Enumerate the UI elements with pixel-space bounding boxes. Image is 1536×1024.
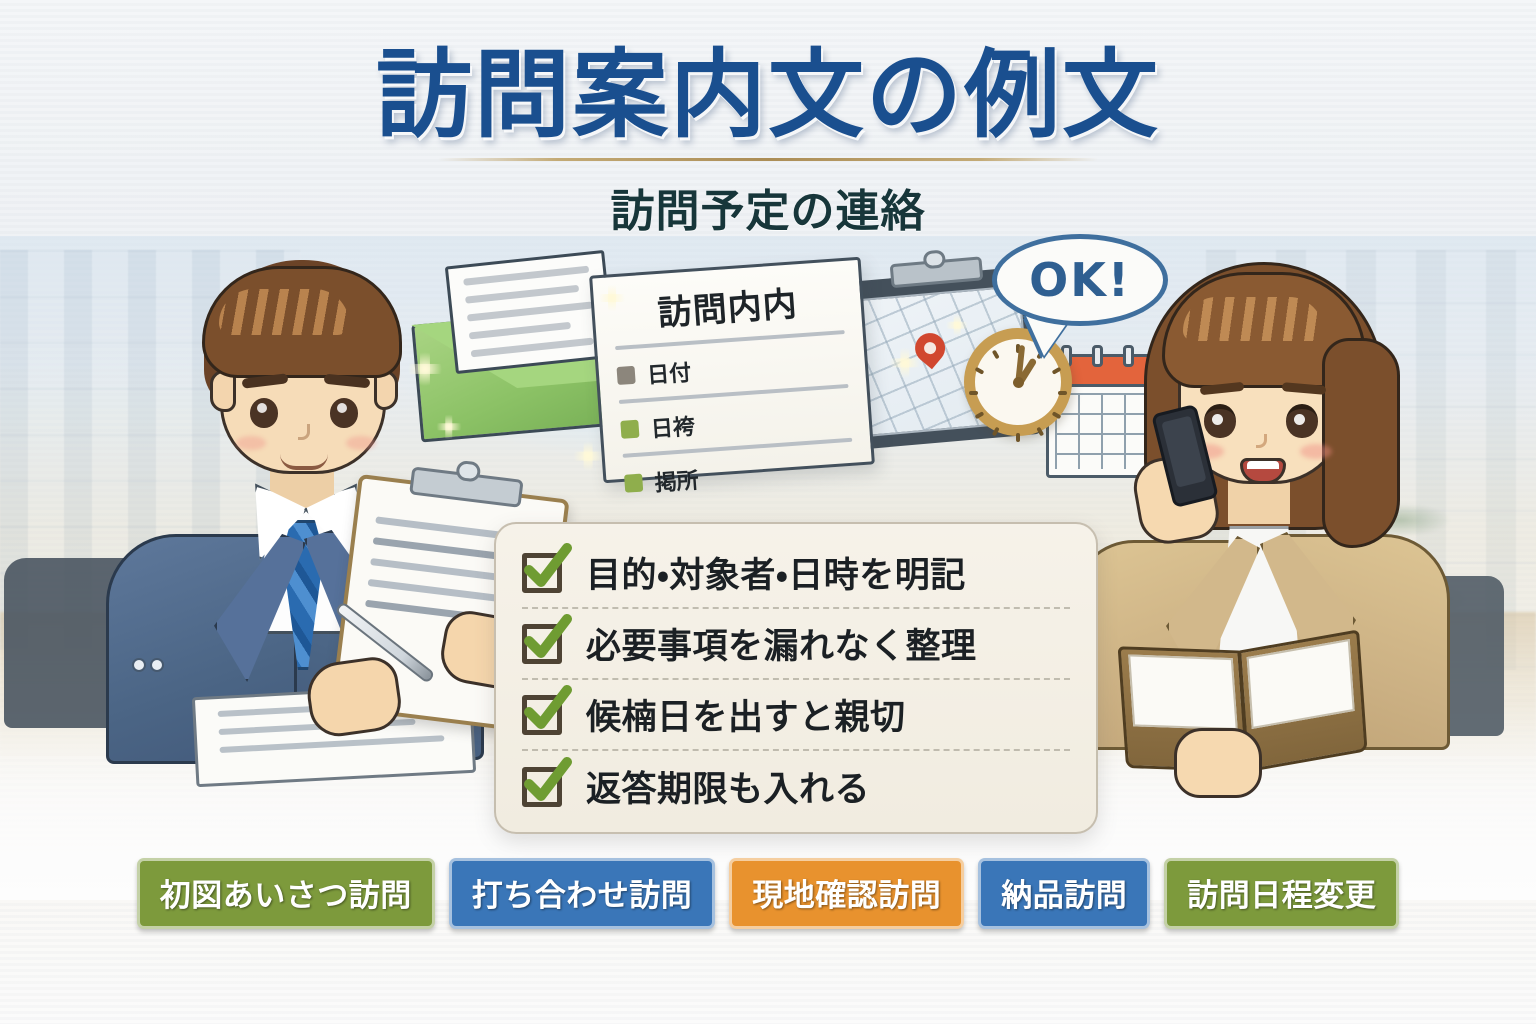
tag-button[interactable]: 納品訪問 bbox=[978, 858, 1150, 929]
eye-right bbox=[1286, 404, 1318, 438]
checklist-item-label: 返答期限も入れる bbox=[586, 761, 870, 812]
checklist-item[interactable]: 候楠日を出すと親切 bbox=[522, 680, 1070, 751]
tag-button[interactable]: 打ち合わせ訪問 bbox=[449, 858, 716, 929]
sparkle-icon bbox=[594, 280, 630, 316]
hair-front bbox=[202, 266, 402, 378]
checklist-item[interactable]: 目的・対象者・日時を明記 bbox=[522, 538, 1070, 609]
poster-canvas: 訪問案内文の例文 訪問予定の連絡 bbox=[0, 0, 1536, 1024]
hand-holding-notebook bbox=[1174, 728, 1262, 798]
businessman-figure bbox=[112, 258, 542, 728]
page-title: 訪問案内文の例文 bbox=[0, 44, 1536, 148]
visit-card-heading: 訪問内内 bbox=[611, 273, 844, 338]
checkbox-icon[interactable] bbox=[522, 695, 562, 735]
poster-header: 訪問案内文の例文 訪問予定の連絡 bbox=[0, 0, 1536, 240]
checklist-item[interactable]: 返答期限も入れる bbox=[522, 751, 1070, 822]
page-subtitle: 訪問予定の連絡 bbox=[0, 175, 1536, 239]
checkbox-icon bbox=[617, 366, 636, 385]
cheek-right bbox=[346, 436, 376, 450]
cheek-right bbox=[1300, 444, 1332, 459]
businesswoman-figure bbox=[1070, 258, 1470, 728]
checkbox-icon[interactable] bbox=[522, 767, 562, 807]
card-item-label: 日付 bbox=[646, 355, 692, 390]
checkbox-icon bbox=[620, 420, 639, 439]
tag-button[interactable]: 訪問日程変更 bbox=[1164, 858, 1399, 929]
sparkle-icon bbox=[884, 342, 926, 384]
card-item: 日付 bbox=[616, 344, 848, 392]
checklist-item[interactable]: 必要事項を漏れなく整理 bbox=[522, 609, 1070, 680]
checkbox-icon bbox=[624, 474, 643, 493]
visit-details-card: 訪問内内 日付 日袴 掲所 bbox=[589, 257, 875, 483]
eye-right bbox=[330, 398, 358, 428]
tag-button[interactable]: 現地確認訪問 bbox=[729, 858, 964, 929]
jacket-cuff-buttons bbox=[132, 658, 186, 674]
checklist-item-label: 目的・対象者・日時を明記 bbox=[586, 547, 966, 598]
tag-bar: 初図あいさつ訪問 打ち合わせ訪問 現地確認訪問 納品訪問 訪問日程変更 bbox=[0, 858, 1536, 929]
sparkle-icon bbox=[568, 436, 608, 476]
tag-button[interactable]: 初図あいさつ訪問 bbox=[137, 858, 435, 929]
checkbox-icon[interactable] bbox=[522, 624, 562, 664]
checklist-panel: 目的・対象者・日時を明記 必要事項を漏れなく整理 候楠日を出すと親切 返答期限も… bbox=[494, 522, 1098, 834]
checklist-item-label: 必要事項を漏れなく整理 bbox=[586, 618, 977, 669]
eye-left bbox=[1204, 404, 1236, 438]
card-item: 日袴 bbox=[620, 398, 852, 446]
sparkle-icon bbox=[942, 310, 972, 340]
cheek-left bbox=[236, 436, 266, 450]
card-item-label: 掲所 bbox=[653, 463, 699, 498]
checkbox-icon[interactable] bbox=[522, 553, 562, 593]
checklist-item-label: 候楠日を出すと親切 bbox=[586, 689, 906, 740]
title-divider bbox=[438, 158, 1098, 161]
card-item-label: 日袴 bbox=[650, 409, 696, 444]
clock-pivot bbox=[1013, 377, 1024, 388]
notebook-page-left bbox=[1128, 654, 1238, 729]
hair-side bbox=[1322, 338, 1400, 548]
eye-left bbox=[250, 398, 278, 428]
